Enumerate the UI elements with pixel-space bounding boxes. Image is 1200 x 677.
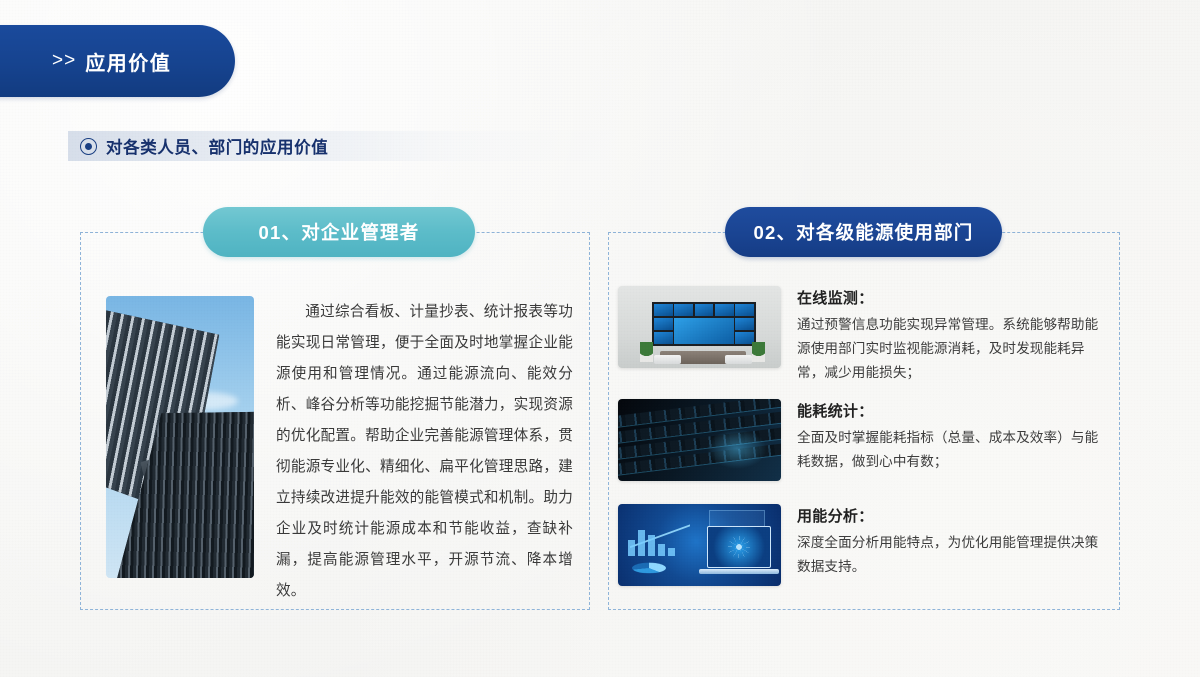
item-text: 能耗统计： 全面及时掌握能耗指标（总量、成本及效率）与能耗数据，做到心中有数； xyxy=(797,399,1110,481)
control-room-photo xyxy=(618,286,781,368)
item-text: 用能分析： 深度全面分析用能特点，为优化用能管理提供决策数据支持。 xyxy=(797,504,1110,586)
section-subtitle: 对各类人员、部门的应用价值 xyxy=(106,134,328,158)
enterprise-managers-paragraph: 通过综合看板、计量抄表、统计报表等功能实现日常管理，便于全面及时地掌握企业能源使… xyxy=(276,297,573,607)
page-title: 应用价值 xyxy=(85,47,171,76)
item-heading: 用能分析： xyxy=(797,505,1110,526)
list-item: 能耗统计： 全面及时掌握能耗指标（总量、成本及效率）与能耗数据，做到心中有数； xyxy=(618,399,1110,481)
item-heading: 能耗统计： xyxy=(797,400,1110,421)
item-body: 全面及时掌握能耗指标（总量、成本及效率）与能耗数据，做到心中有数； xyxy=(797,426,1110,474)
backlit-keyboard-photo xyxy=(618,399,781,481)
subtitle-row: 对各类人员、部门的应用价值 xyxy=(80,133,328,159)
list-item: 用能分析： 深度全面分析用能特点，为优化用能管理提供决策数据支持。 xyxy=(618,504,1110,586)
slide-canvas: >> 应用价值 对各类人员、部门的应用价值 01、对企业管理者 通过综合看板、计… xyxy=(0,0,1200,677)
item-heading: 在线监测： xyxy=(797,287,1110,308)
target-ring-icon xyxy=(80,138,97,155)
item-body: 深度全面分析用能特点，为优化用能管理提供决策数据支持。 xyxy=(797,531,1110,579)
card-title-pill-02: 02、对各级能源使用部门 xyxy=(725,207,1002,257)
card-title-pill-01: 01、对企业管理者 xyxy=(203,207,475,257)
header-banner: >> 应用价值 xyxy=(0,25,235,97)
chevron-double-right-icon: >> xyxy=(52,50,76,72)
item-text: 在线监测： 通过预警信息功能实现异常管理。系统能够帮助能源使用部门实时监视能源消… xyxy=(797,286,1110,385)
item-body: 通过预警信息功能实现异常管理。系统能够帮助能源使用部门实时监视能源消耗，及时发现… xyxy=(797,313,1110,385)
data-analytics-photo xyxy=(618,504,781,586)
list-item: 在线监测： 通过预警信息功能实现异常管理。系统能够帮助能源使用部门实时监视能源消… xyxy=(618,286,1110,385)
skyscrapers-photo xyxy=(106,296,254,578)
